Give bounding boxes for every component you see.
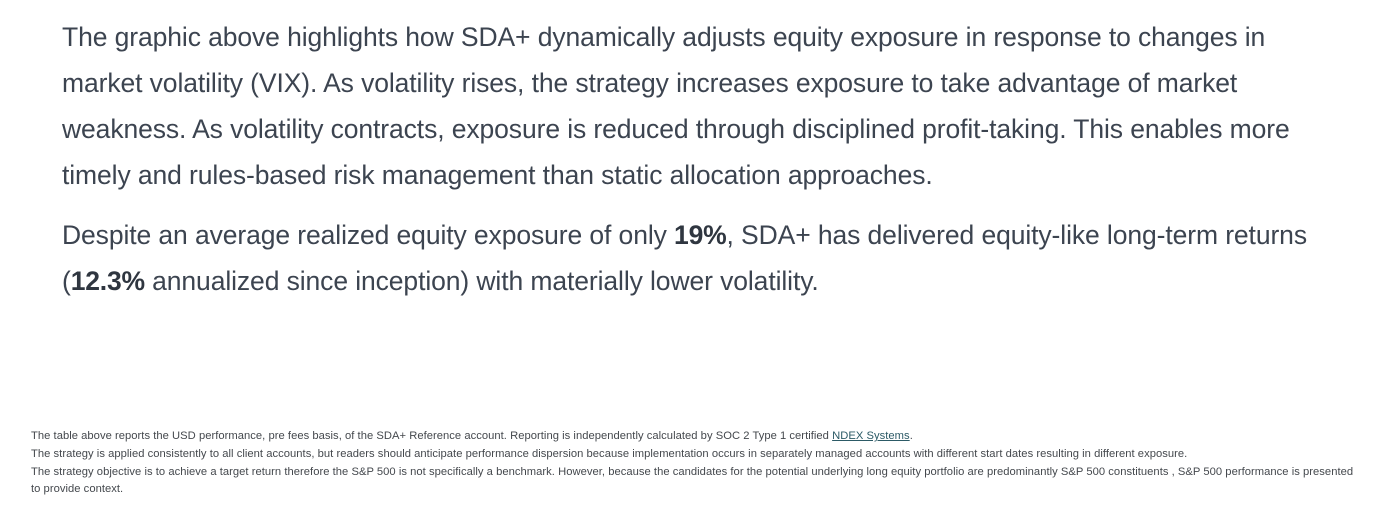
footnote-line-benchmark: The strategy objective is to achieve a t… (31, 464, 1361, 500)
footnotes-region: The table above reports the USD performa… (31, 428, 1361, 499)
disclosure-page: The graphic above highlights how SDA+ dy… (0, 0, 1390, 505)
footnote-1-segment-2: . (910, 430, 913, 442)
footnote-line-dispersion: The strategy is applied consistently to … (31, 446, 1361, 464)
paragraph-2-segment-1: Despite an average realized equity expos… (62, 220, 674, 250)
footnote-1-segment-1: The table above reports the USD performa… (31, 430, 832, 442)
annualized-return-value: 12.3% (71, 266, 145, 296)
body-copy-region: The graphic above highlights how SDA+ dy… (62, 14, 1334, 304)
paragraph-strategy-description: The graphic above highlights how SDA+ dy… (62, 14, 1334, 198)
paragraph-2-segment-3: annualized since inception) with materia… (145, 266, 819, 296)
paragraph-performance-summary: Despite an average realized equity expos… (62, 212, 1334, 304)
paragraph-1-text: The graphic above highlights how SDA+ dy… (62, 22, 1290, 190)
ndex-systems-link[interactable]: NDEX Systems (832, 430, 910, 442)
footnote-line-reporting: The table above reports the USD performa… (31, 428, 1361, 446)
average-equity-exposure-value: 19% (674, 220, 726, 250)
